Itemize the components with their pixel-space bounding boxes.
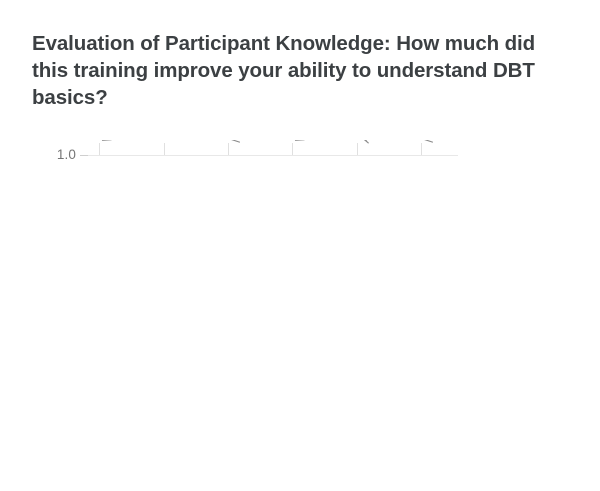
x-axis-tick-mark <box>421 143 422 155</box>
x-axis-tick-label: A great deal / <box>357 140 395 145</box>
y-axis-tick-label: 1.0 <box>40 147 76 162</box>
x-axis-tick-label: No a <box>421 140 444 145</box>
x-axis-label-wrapper: Very little / N <box>99 140 249 255</box>
x-axis-label-wrapper: Mod <box>228 140 378 255</box>
plot-area: 1.0 Very little / N Mod Ver A great deal… <box>0 137 600 257</box>
gridline-value-1 <box>88 155 458 156</box>
x-axis-tick-label: Very little / N <box>99 140 136 145</box>
x-axis-label-wrapper: A great deal / <box>357 140 507 255</box>
x-axis-tick-label: Ver <box>292 140 312 145</box>
x-axis-tick-mark <box>164 143 165 155</box>
chart-card: Evaluation of Participant Knowledge: How… <box>0 0 600 491</box>
x-axis-tick-mark <box>99 143 100 155</box>
x-axis-tick-mark <box>357 143 358 155</box>
x-axis-tick-label: Mod <box>228 140 250 145</box>
x-axis-label-wrapper: Ver <box>292 140 442 255</box>
x-axis-tick-mark <box>292 143 293 155</box>
chart-title: Evaluation of Participant Knowledge: How… <box>32 30 568 111</box>
x-axis-label-wrapper: No a <box>421 140 571 255</box>
y-axis-tick-mark <box>80 155 88 156</box>
x-axis-tick-mark <box>228 143 229 155</box>
